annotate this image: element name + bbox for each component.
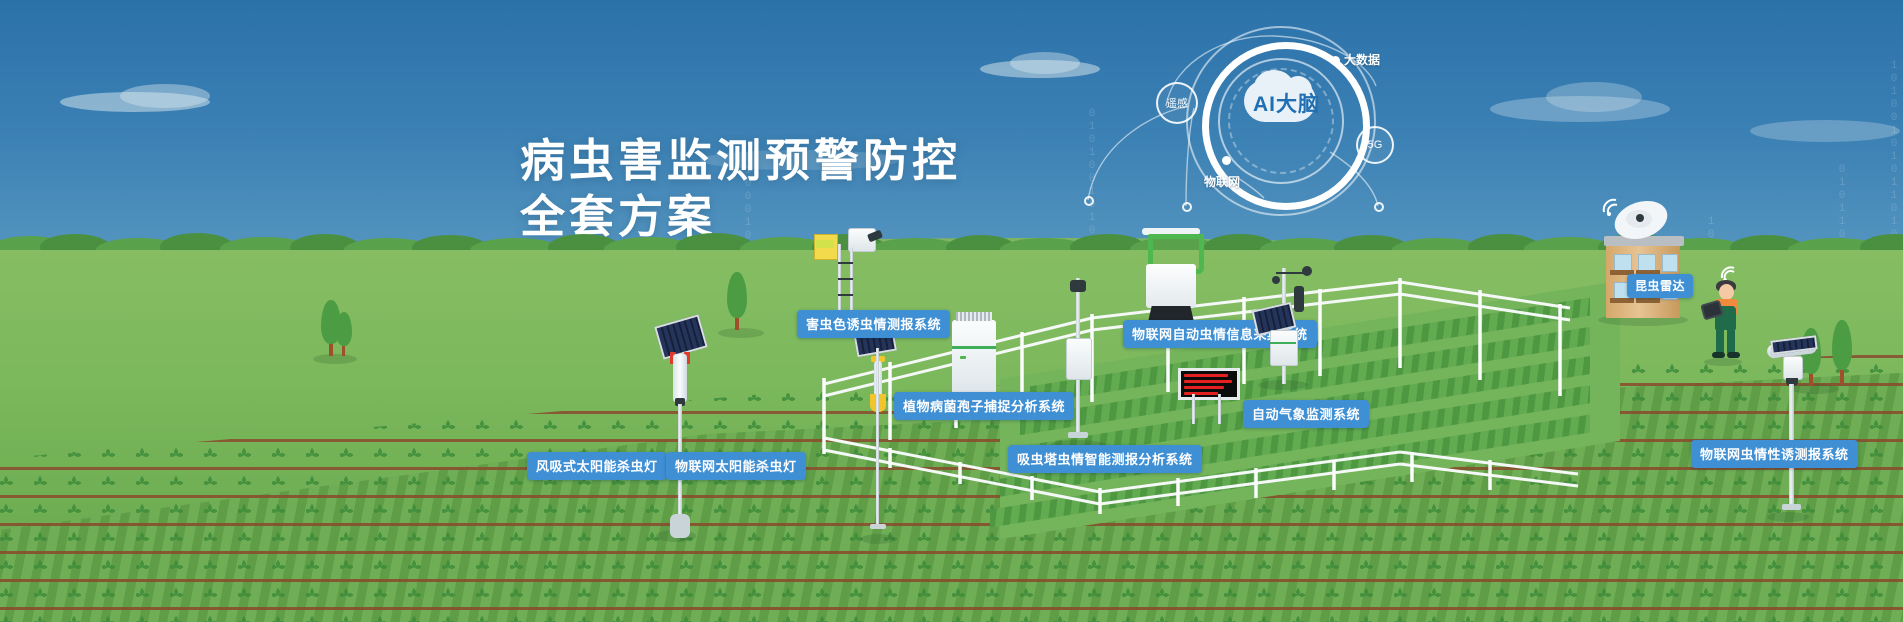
control-box xyxy=(1270,330,1298,366)
tag-insect-radar[interactable]: 昆虫雷达 xyxy=(1627,274,1693,298)
pole-brace xyxy=(838,278,853,280)
lamp-pole xyxy=(876,348,879,526)
page-title: 病虫害监测预警防控 全套方案 xyxy=(520,133,961,245)
worker-shadow xyxy=(1704,358,1742,366)
vent-grille xyxy=(956,312,992,321)
node-5g[interactable]: 5G xyxy=(1356,126,1394,164)
anemometer-cups xyxy=(1302,266,1312,276)
cloud-shape xyxy=(120,84,210,108)
headline-line-1: 病虫害监测预警防控 xyxy=(520,133,961,189)
device-iot-pest-pheromone-lure-forecast-system[interactable] xyxy=(1755,336,1829,526)
pole-brace xyxy=(838,294,853,296)
node-label-iot: 物联网 xyxy=(1204,173,1240,190)
binary-code-column: 1010010101101001010100101010110 xyxy=(1888,60,1900,240)
node-dot-big-data[interactable] xyxy=(1331,56,1340,65)
cloud-shape xyxy=(1010,52,1080,74)
collection-bin xyxy=(670,514,690,538)
node-dot-endpoint xyxy=(1374,202,1384,212)
tag-suction-tower[interactable]: 吸虫塔虫情智能测报分析系统 xyxy=(1008,445,1202,473)
tag-wind-suction-solar-insect-lamp[interactable]: 风吸式太阳能杀虫灯 xyxy=(527,452,667,480)
tag-iot-pest-pheromone-lure-forecast-system[interactable]: 物联网虫情性诱测报系统 xyxy=(1691,440,1858,468)
brand-stripe xyxy=(1270,342,1296,344)
analysis-cabinet xyxy=(952,320,996,398)
cloud-shape xyxy=(1546,82,1642,112)
trap-base xyxy=(1782,504,1801,510)
tree xyxy=(722,272,756,334)
tag-automatic-weather-monitoring-system[interactable]: 自动气象监测系统 xyxy=(1243,400,1369,428)
radar-feed xyxy=(1636,214,1644,222)
illustration-banner: 0100010011010010101000101011010 01010010… xyxy=(0,0,1903,622)
ai-brain-network: AI大脑 遥感 5G 大数据 物联网 xyxy=(1078,20,1478,250)
device-insect-radar[interactable] xyxy=(1596,196,1706,326)
led-line xyxy=(1184,380,1232,383)
led-line xyxy=(1184,392,1218,395)
tower-base xyxy=(1068,432,1088,438)
node-remote-sensing[interactable]: 遥感 xyxy=(1156,82,1198,124)
node-label-big-data: 大数据 xyxy=(1344,51,1380,68)
device-shadow xyxy=(861,534,895,544)
node-dot-endpoint xyxy=(1084,196,1094,206)
window-ledge xyxy=(1610,298,1634,303)
device-color-lure-pest-forecast-system[interactable] xyxy=(810,222,890,322)
tree xyxy=(1826,320,1862,388)
window-ledge xyxy=(1636,298,1660,303)
led-screen xyxy=(1178,368,1240,400)
brand-stripe xyxy=(952,346,996,349)
worker-shoe xyxy=(1712,352,1725,358)
mounting-pole xyxy=(850,248,853,314)
tag-iot-solar-insect-lamp[interactable]: 物联网太阳能杀虫灯 xyxy=(666,452,806,480)
led-display-board[interactable] xyxy=(1178,368,1242,428)
field-worker xyxy=(1700,276,1752,366)
device-suction-tower[interactable] xyxy=(1048,272,1118,452)
device-iot-solar-insect-lamp[interactable] xyxy=(855,328,915,553)
worker-shoe xyxy=(1727,352,1740,358)
wind-vane xyxy=(1272,276,1280,284)
trap-body xyxy=(1783,356,1803,380)
worker-leg xyxy=(1727,328,1735,354)
collector-body xyxy=(1146,264,1196,308)
cloud-shape xyxy=(1750,120,1900,142)
tower-cabinet xyxy=(1066,338,1092,380)
led-line xyxy=(1184,374,1228,377)
suction-head xyxy=(1070,280,1086,292)
sign-post xyxy=(1218,394,1221,424)
worker-leg xyxy=(1716,328,1724,354)
lamp-base xyxy=(870,524,886,529)
tag-plant-pathogen-spore-capture-analysis-system[interactable]: 植物病菌孢子捕捉分析系统 xyxy=(894,392,1074,420)
tree xyxy=(332,312,362,360)
device-wind-suction-solar-insect-lamp[interactable] xyxy=(648,320,718,550)
node-dot-endpoint xyxy=(1182,202,1192,212)
pole-brace xyxy=(838,262,853,264)
node-label-remote-sensing: 遥感 xyxy=(1166,95,1188,111)
rain-gauge xyxy=(1294,286,1304,312)
device-shadow xyxy=(1767,512,1809,522)
lure-strip xyxy=(816,240,834,248)
building-window xyxy=(1662,254,1678,272)
status-led xyxy=(960,356,966,359)
signal-waves-icon xyxy=(1600,196,1630,218)
solar-panel xyxy=(654,314,708,359)
node-label-5g: 5G xyxy=(1368,139,1383,151)
worker-head xyxy=(1719,284,1734,300)
device-automatic-weather-monitoring-system[interactable] xyxy=(1248,262,1338,392)
lamp-tube xyxy=(673,354,687,402)
node-dot-iot[interactable] xyxy=(1222,156,1231,165)
sign-post xyxy=(1192,394,1195,424)
tag-color-lure-pest-forecast-system[interactable]: 害虫色诱虫情测报系统 xyxy=(797,310,950,338)
ai-brain-label: AI大脑 xyxy=(1253,88,1320,118)
led-line xyxy=(1184,386,1224,389)
